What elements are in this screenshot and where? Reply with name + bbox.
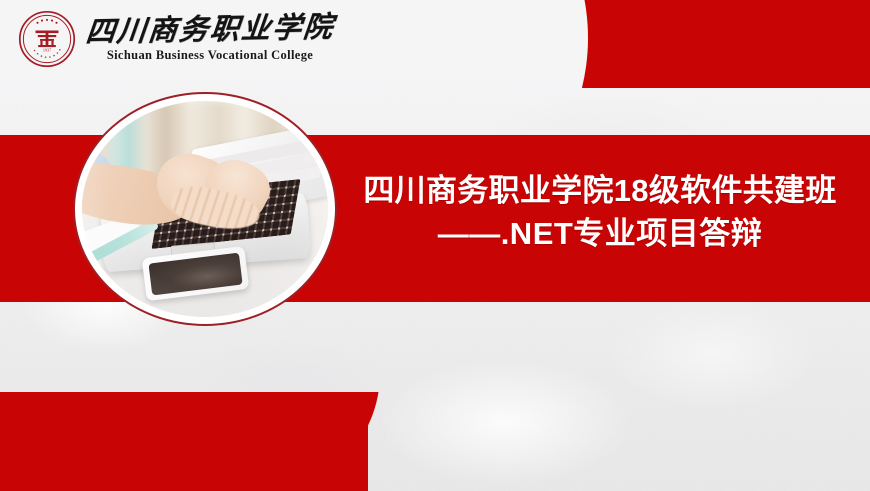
slide-title-line-1: 四川商务职业学院18级软件共建班 [336, 170, 864, 213]
college-name-en: Sichuan Business Vocational College [107, 49, 313, 62]
slide-title: 四川商务职业学院18级软件共建班 ——.NET专业项目答辩 [336, 170, 864, 256]
photo-vignette [82, 101, 328, 317]
presentation-slide: 1937 四川商务职业学院 Sichuan Business Vocationa… [0, 0, 870, 491]
circular-photo-frame [73, 92, 337, 326]
college-logo-text: 四川商务职业学院 Sichuan Business Vocational Col… [86, 16, 334, 62]
bottom-red-band [0, 392, 500, 491]
college-seal-icon: 1937 [18, 10, 76, 68]
slide-title-line-2: ——.NET专业项目答辩 [336, 213, 864, 256]
laptop-typing-photo [82, 101, 328, 317]
svg-text:1937: 1937 [43, 48, 51, 53]
college-logo: 1937 四川商务职业学院 Sichuan Business Vocationa… [18, 10, 334, 68]
college-name-cn: 四川商务职业学院 [84, 14, 336, 48]
